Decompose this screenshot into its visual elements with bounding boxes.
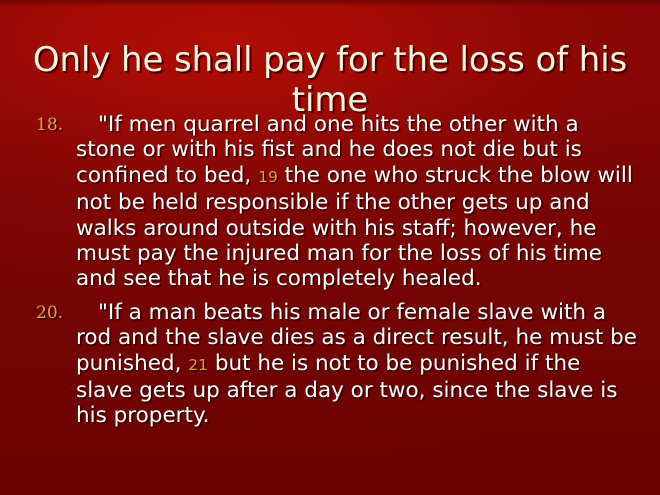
slide-top-edge-shading — [0, 0, 660, 7]
slide-title: Only he shall pay for the loss of his ti… — [18, 40, 642, 120]
list-item: 20. "If a man beats his male or female s… — [30, 300, 638, 429]
inline-verse-number: 21 — [188, 356, 208, 374]
presentation-slide: Only he shall pay for the loss of his ti… — [0, 0, 660, 495]
list-item-marker: 20. — [36, 303, 70, 323]
list-item: 18. "If men quarrel and one hits the oth… — [30, 112, 638, 292]
slide-body-list: 18. "If men quarrel and one hits the oth… — [30, 112, 638, 437]
list-item-marker: 18. — [36, 115, 70, 135]
inline-verse-number: 19 — [258, 168, 278, 186]
